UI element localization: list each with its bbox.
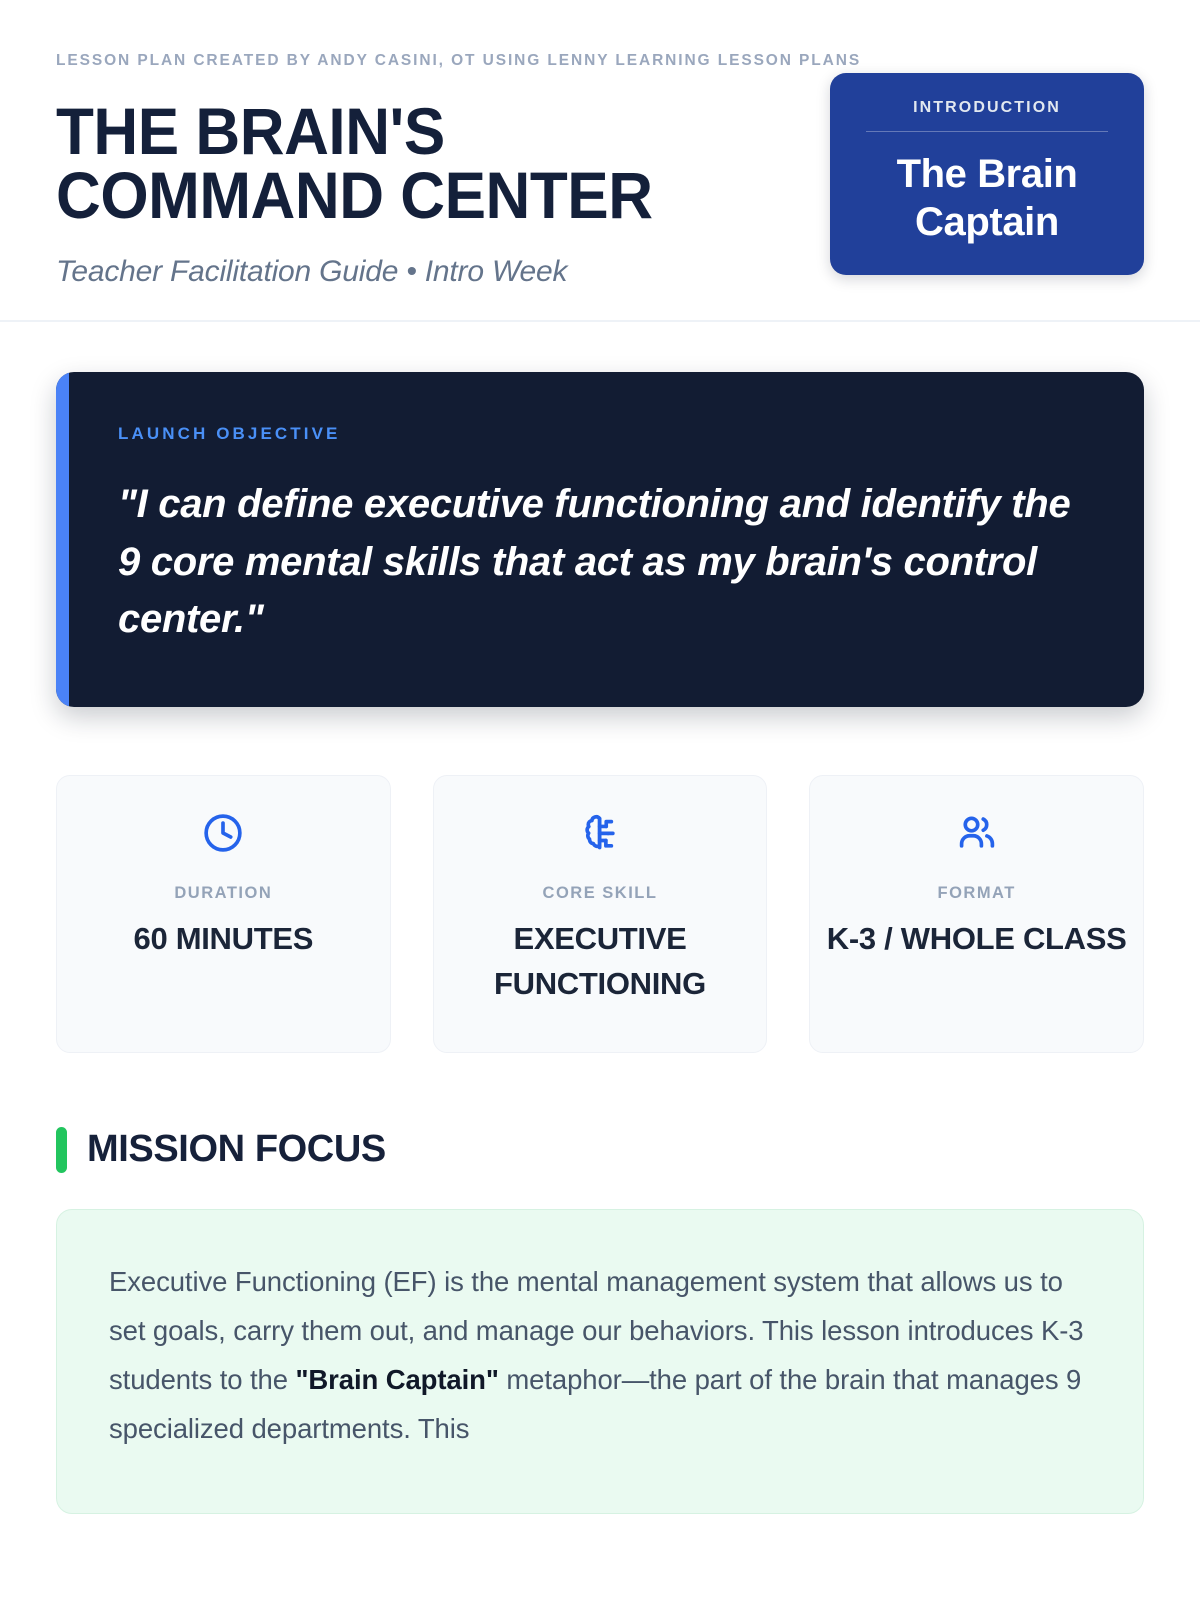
stat-label: DURATION [73, 884, 374, 903]
launch-objective-card: LAUNCH OBJECTIVE "I can define executive… [56, 372, 1144, 707]
stat-card-core-skill: CORE SKILL EXECUTIVE FUNCTIONING [433, 775, 768, 1053]
clock-icon [73, 810, 374, 856]
objective-quote: "I can define executive functioning and … [118, 476, 1090, 649]
credit-line: LESSON PLAN CREATED BY ANDY CASINI, OT U… [56, 52, 1144, 71]
stat-value: EXECUTIVE FUNCTIONING [450, 917, 751, 1007]
mission-focus-text: Executive Functioning (EF) is the mental… [109, 1258, 1091, 1454]
stat-value: 60 MINUTES [73, 917, 374, 962]
stat-label: CORE SKILL [450, 884, 751, 903]
introduction-badge: INTRODUCTION The Brain Captain [830, 73, 1144, 276]
mission-text-bold: "Brain Captain" [295, 1364, 498, 1395]
header-text-block: THE BRAIN'S COMMAND CENTER Teacher Facil… [56, 71, 806, 290]
page-content: LAUNCH OBJECTIVE "I can define executive… [0, 322, 1200, 1515]
stat-value: K-3 / WHOLE CLASS [826, 917, 1127, 962]
stat-card-format: FORMAT K-3 / WHOLE CLASS [809, 775, 1144, 1053]
lesson-plan-page: LESSON PLAN CREATED BY ANDY CASINI, OT U… [0, 0, 1200, 1600]
mission-focus-heading: MISSION FOCUS [56, 1127, 1144, 1173]
objective-accent-bar [56, 372, 69, 707]
stat-card-row: DURATION 60 MINUTES CORE [56, 775, 1144, 1053]
page-header: LESSON PLAN CREATED BY ANDY CASINI, OT U… [0, 0, 1200, 322]
page-title: THE BRAIN'S COMMAND CENTER [56, 99, 761, 228]
objective-label: LAUNCH OBJECTIVE [118, 424, 1090, 444]
page-subtitle: Teacher Facilitation Guide • Intro Week [56, 254, 806, 290]
stat-label: FORMAT [826, 884, 1127, 903]
badge-kicker: INTRODUCTION [866, 99, 1108, 132]
brain-icon [450, 810, 751, 856]
users-icon [826, 810, 1127, 856]
section-accent-bar [56, 1127, 67, 1173]
mission-focus-panel: Executive Functioning (EF) is the mental… [56, 1209, 1144, 1515]
section-title: MISSION FOCUS [87, 1128, 386, 1171]
badge-title: The Brain Captain [852, 150, 1122, 248]
stat-card-duration: DURATION 60 MINUTES [56, 775, 391, 1053]
